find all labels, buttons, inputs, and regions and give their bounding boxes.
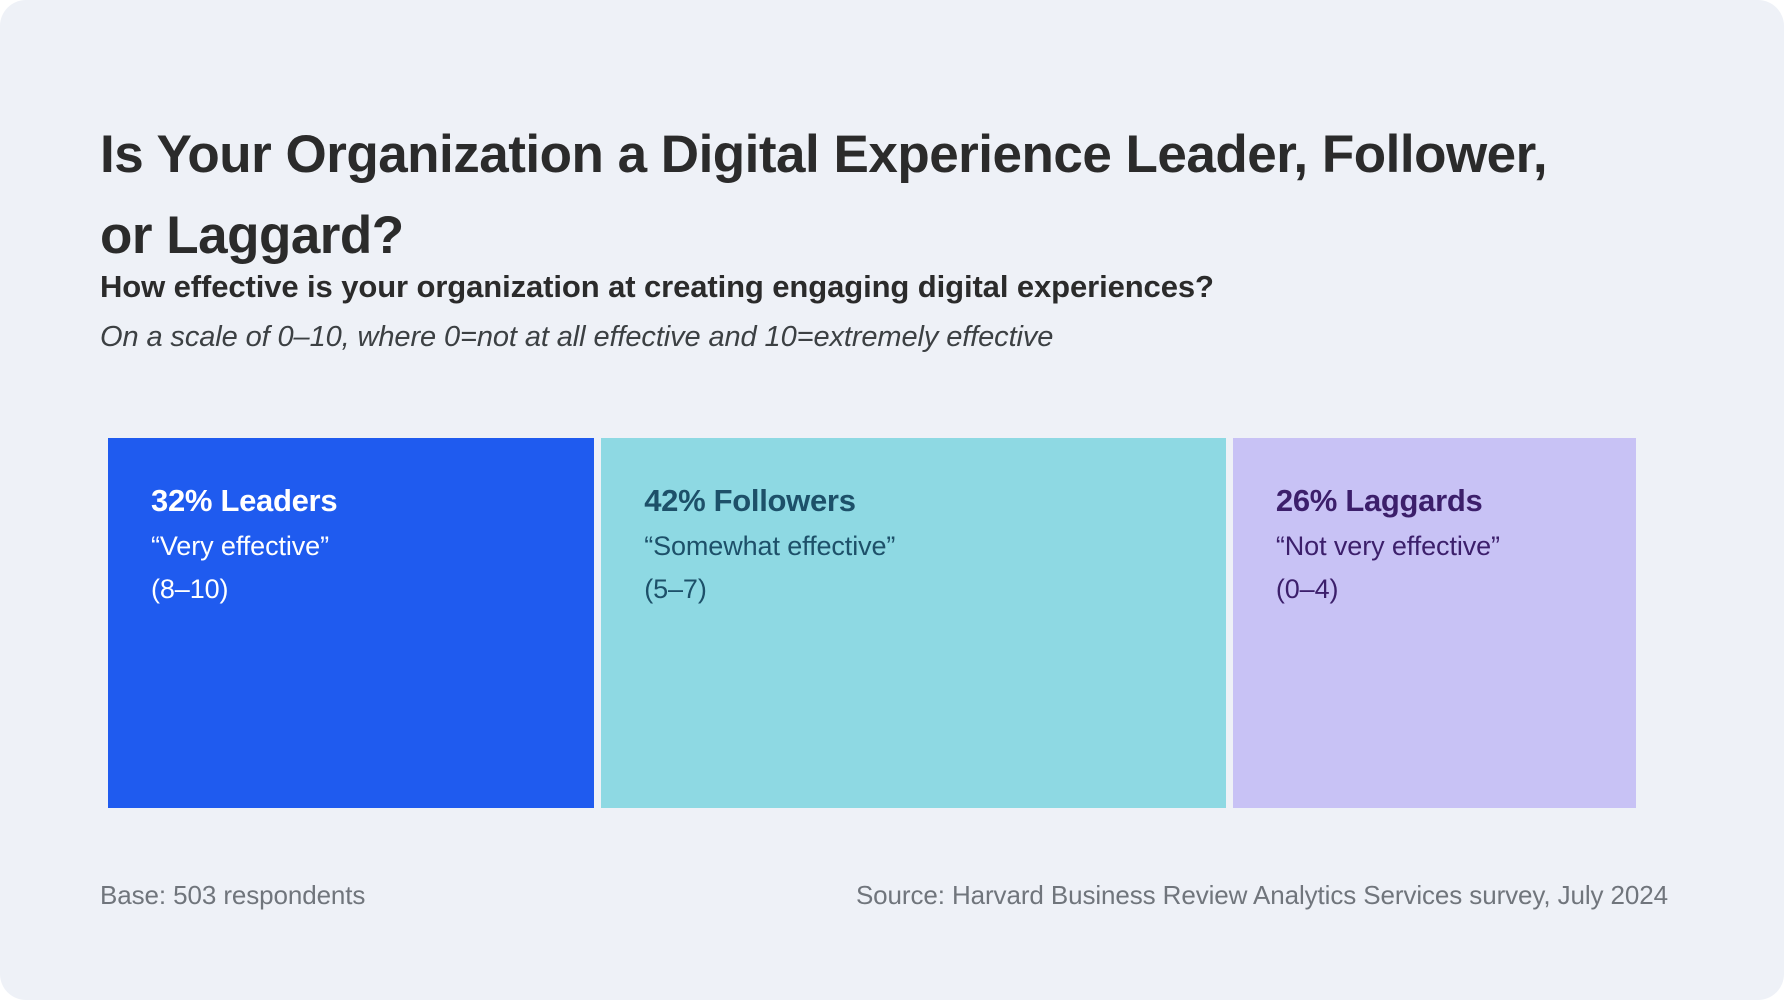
bar-segment-quote: “Not very effective” — [1276, 525, 1636, 568]
bar-segment-laggards: 26% Laggards “Not very effective” (0–4) — [1233, 438, 1636, 808]
survey-question: How effective is your organization at cr… — [100, 268, 1580, 306]
survey-scale-note: On a scale of 0–10, where 0=not at all e… — [100, 318, 1580, 356]
bar-segment-range: (8–10) — [151, 568, 594, 611]
footer-base-note: Base: 503 respondents — [100, 875, 365, 915]
infographic-card: Is Your Organization a Digital Experienc… — [0, 0, 1784, 1000]
bar-segment-label: 26% Laggards — [1276, 481, 1636, 521]
bar-segment-quote: “Somewhat effective” — [644, 525, 1226, 568]
bar-segment-range: (5–7) — [644, 568, 1226, 611]
segmented-bar-chart: 32% Leaders “Very effective” (8–10) 42% … — [108, 438, 1636, 808]
footer-source-note: Source: Harvard Business Review Analytic… — [856, 875, 1668, 915]
bar-segment-leaders: 32% Leaders “Very effective” (8–10) — [108, 438, 594, 808]
bar-segment-followers: 42% Followers “Somewhat effective” (5–7) — [601, 438, 1226, 808]
page-title: Is Your Organization a Digital Experienc… — [100, 114, 1570, 276]
bar-segment-range: (0–4) — [1276, 568, 1636, 611]
infographic-content: Is Your Organization a Digital Experienc… — [100, 0, 1684, 1000]
bar-segment-label: 42% Followers — [644, 481, 1226, 521]
bar-segment-quote: “Very effective” — [151, 525, 594, 568]
bar-segment-label: 32% Leaders — [151, 481, 594, 521]
chart-footer: Base: 503 respondents Source: Harvard Bu… — [100, 875, 1684, 915]
